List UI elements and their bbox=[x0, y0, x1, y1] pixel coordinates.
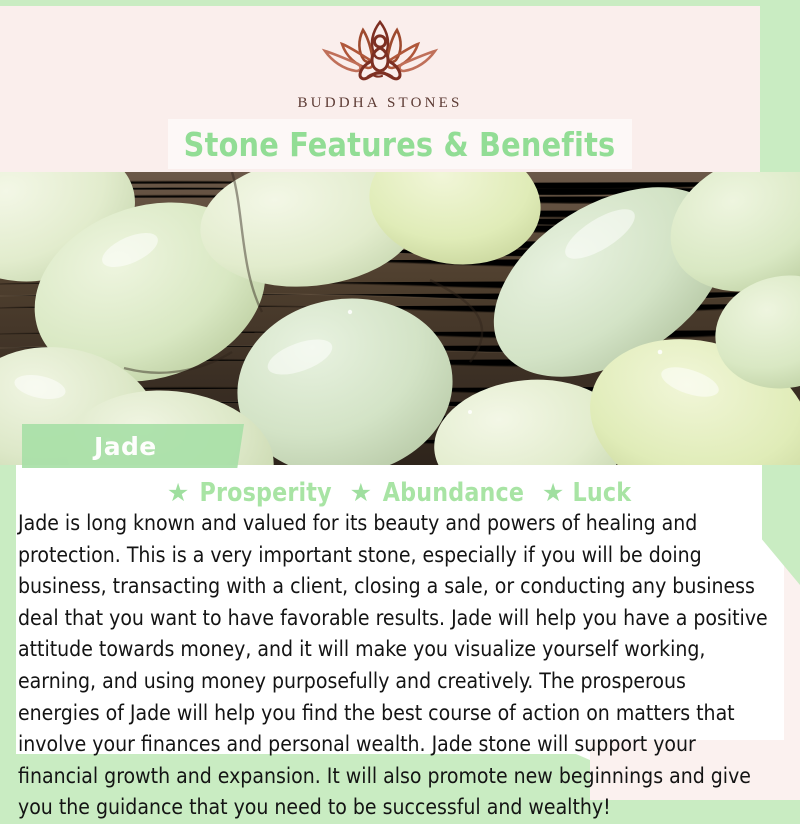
benefits-row: ★ Prosperity ★ Abundance ★ Luck bbox=[0, 478, 800, 508]
brand-header: BUDDHA STONES bbox=[0, 14, 760, 112]
benefit-item: ★ Luck bbox=[542, 478, 633, 508]
lotus-meditation-icon bbox=[316, 14, 444, 86]
stone-name-label: Jade bbox=[94, 432, 157, 461]
star-icon: ★ bbox=[167, 481, 189, 506]
poster-root: BUDDHA STONES Stone Features & Benefits bbox=[0, 0, 800, 800]
benefit-label: Abundance bbox=[383, 478, 524, 508]
benefit-label: Prosperity bbox=[200, 478, 332, 508]
benefit-item: ★ Abundance bbox=[350, 478, 528, 508]
page-title: Stone Features & Benefits bbox=[184, 125, 616, 164]
brand-name: BUDDHA STONES bbox=[0, 95, 760, 112]
benefit-item: ★ Prosperity bbox=[167, 478, 336, 508]
left-green-accent bbox=[0, 465, 16, 765]
title-ribbon: Stone Features & Benefits bbox=[168, 119, 632, 169]
stone-photo bbox=[0, 172, 800, 465]
star-icon: ★ bbox=[350, 481, 372, 506]
stone-description: Jade is long known and valued for its be… bbox=[18, 508, 773, 824]
benefit-label: Luck bbox=[573, 478, 632, 508]
star-icon: ★ bbox=[542, 481, 564, 506]
stone-name-tag: Jade bbox=[22, 424, 244, 468]
